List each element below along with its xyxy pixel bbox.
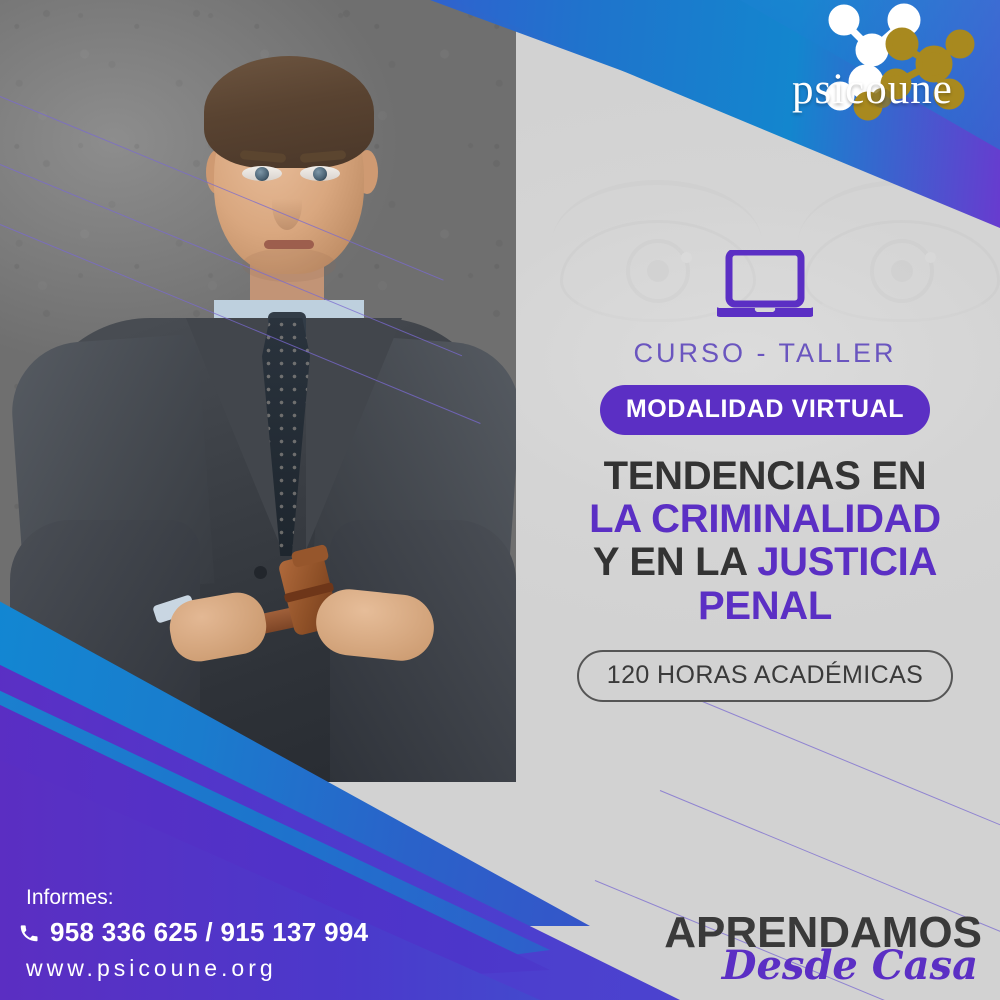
contact-label: Informes: [26,886,368,910]
promotional-poster: psicoune CURSO - TALLER MODALIDAD VIRTUA… [0,0,1000,1000]
jacket-button [254,566,267,579]
contact-phone-row[interactable]: 958 336 625 / 915 137 994 [18,917,368,948]
lapel-right [306,318,402,550]
page-title: TENDENCIAS EN LA CRIMINALIDAD Y EN LA JU… [540,455,990,628]
title-line-3-accent: JUSTICIA [757,540,937,584]
laptop-icon [717,250,813,320]
title-line-3: Y EN LA JUSTICIA [540,541,990,584]
slogan-block: APRENDAMOS Desde Casa [664,912,982,986]
contact-phone-numbers: 958 336 625 / 915 137 994 [50,917,368,948]
contact-block: Informes: 958 336 625 / 915 137 994 www.… [18,886,368,982]
contact-website[interactable]: www.psicoune.org [26,955,368,982]
title-line-4: PENAL [540,585,990,628]
hours-badge: 120 HORAS ACADÉMICAS [577,650,953,702]
title-line-3-plain: Y EN LA [593,540,757,584]
content-block: CURSO - TALLER MODALIDAD VIRTUAL TENDENC… [540,250,990,702]
logo-wordmark: psicoune [792,65,953,114]
brand-logo[interactable]: psicoune [786,6,986,124]
title-line-1: TENDENCIAS EN [540,455,990,498]
kicker-text: CURSO - TALLER [540,338,990,369]
eye-right [300,166,340,181]
chin-shadow [242,248,336,282]
nose [272,178,302,230]
hair [204,56,374,168]
phone-icon [18,922,40,944]
eye-left [242,166,282,181]
title-line-2: LA CRIMINALIDAD [540,498,990,541]
modality-badge: MODALIDAD VIRTUAL [600,385,930,435]
